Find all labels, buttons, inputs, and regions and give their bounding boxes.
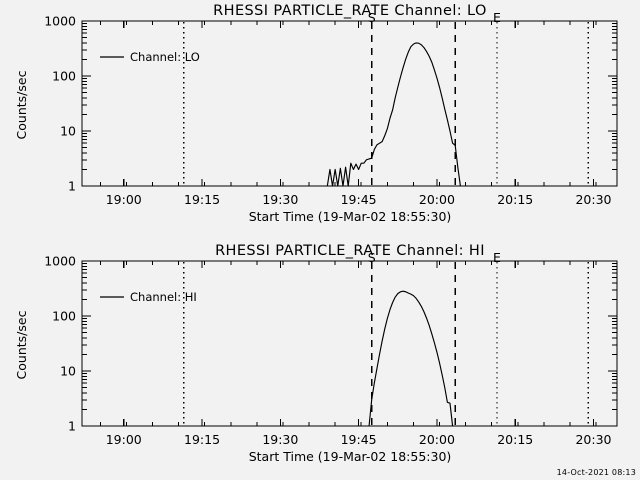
legend-label-lo: Channel: LO [130, 50, 200, 64]
x-tick-label: 20:15 [497, 192, 533, 207]
plot-svg-lo: RHESSI PARTICLE_RATE Channel: LO 1101001… [0, 0, 640, 240]
figure-canvas: RHESSI PARTICLE_RATE Channel: LO 1101001… [0, 0, 640, 480]
x-tick-label: 19:30 [262, 192, 298, 207]
x-tick-label: 19:15 [184, 432, 220, 447]
data-curve-hi [369, 291, 453, 426]
y-tick-label: 10 [60, 124, 76, 139]
y-tick-label: 10 [60, 364, 76, 379]
x-tick-label: 20:00 [419, 192, 455, 207]
x-axis-label-hi: Start Time (19-Mar-02 18:55:30) [249, 449, 452, 464]
axes-lo: 110100100019:0019:1519:3019:4520:0020:15… [44, 10, 617, 207]
x-tick-label: 19:00 [106, 192, 142, 207]
render-timestamp: 14-Oct-2021 08:13 [557, 468, 636, 477]
x-tick-label: 20:30 [575, 432, 611, 447]
x-tick-label: 19:30 [262, 432, 298, 447]
y-tick-label: 1 [68, 419, 76, 434]
plot-panel-lo: RHESSI PARTICLE_RATE Channel: LO 1101001… [0, 0, 640, 240]
x-tick-label: 19:45 [341, 192, 377, 207]
annotation-marker-e: E [493, 250, 501, 265]
legend-label-hi: Channel: HI [130, 290, 197, 304]
annotation-marker-e: E [493, 10, 501, 25]
axes-hi: 110100100019:0019:1519:3019:4520:0020:15… [44, 250, 617, 447]
y-tick-label: 1 [68, 179, 76, 194]
y-tick-label: 100 [52, 309, 76, 324]
x-tick-label: 20:30 [575, 192, 611, 207]
x-tick-label: 19:45 [341, 432, 377, 447]
x-tick-label: 20:15 [497, 432, 533, 447]
annotation-marker-s: S [368, 250, 376, 265]
legend-hi: Channel: HI [100, 290, 197, 304]
y-tick-label: 100 [52, 69, 76, 84]
x-tick-label: 19:15 [184, 192, 220, 207]
y-tick-label: 1000 [44, 14, 76, 29]
annotation-marker-s: S [368, 10, 376, 25]
x-tick-label: 19:00 [106, 432, 142, 447]
y-axis-label-hi: Counts/sec [14, 310, 29, 379]
x-axis-label-lo: Start Time (19-Mar-02 18:55:30) [249, 209, 452, 224]
y-tick-label: 1000 [44, 254, 76, 269]
plot-panel-hi: RHESSI PARTICLE_RATE Channel: HI 1101001… [0, 240, 640, 480]
plot-title-lo: RHESSI PARTICLE_RATE Channel: LO [213, 3, 487, 19]
y-axis-label-lo: Counts/sec [14, 70, 29, 139]
plot-title-hi: RHESSI PARTICLE_RATE Channel: HI [215, 243, 485, 259]
x-tick-label: 20:00 [419, 432, 455, 447]
plot-svg-hi: RHESSI PARTICLE_RATE Channel: HI 1101001… [0, 240, 640, 480]
data-curve-lo [327, 43, 460, 186]
legend-lo: Channel: LO [100, 50, 200, 64]
